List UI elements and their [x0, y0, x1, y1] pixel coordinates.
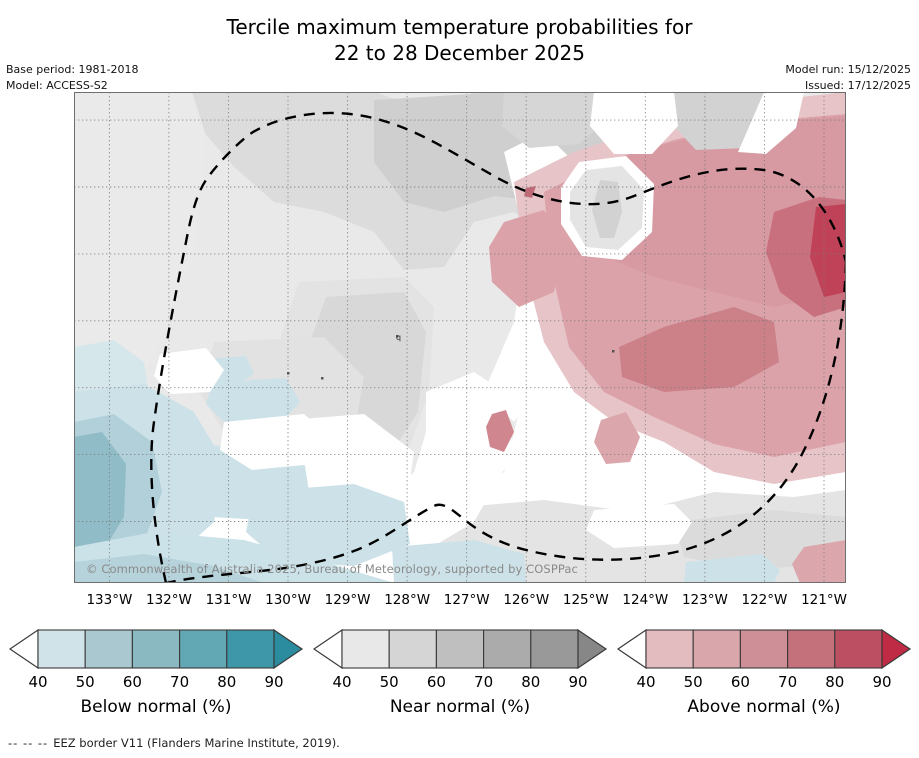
colorbar-band [180, 630, 227, 668]
colorbar-tick-label: 60 [731, 673, 750, 691]
colorbar-below-normal-ticks: 405060708090 [8, 673, 304, 693]
colorbar-tick-label: 60 [123, 673, 142, 691]
colorbar-tick-label: 80 [217, 673, 236, 691]
colorbar-swatches [312, 626, 608, 672]
x-tick-label: 121°W [801, 592, 847, 608]
colorbar-band [788, 630, 835, 668]
colorbar-tick-label: 40 [28, 673, 47, 691]
colorbar-above-normal-caption: Above normal (%) [616, 697, 912, 717]
colorbar-band [342, 630, 389, 668]
colorbar-over-arrow [578, 630, 606, 668]
x-tick-label: 130°W [265, 592, 311, 608]
colorbar-band [531, 630, 578, 668]
colorbar-under-arrow [10, 630, 38, 668]
x-tick-label: 129°W [325, 592, 371, 608]
x-tick-label: 128°W [384, 592, 430, 608]
colorbar-below-normal-caption: Below normal (%) [8, 697, 304, 717]
map-plot-area: q [74, 92, 846, 583]
colorbar-tick-label: 50 [380, 673, 399, 691]
colorbar-below-normal: 405060708090 Below normal (%) [8, 626, 304, 732]
colorbar-tick-label: 90 [568, 673, 587, 691]
colorbar-under-arrow [618, 630, 646, 668]
colorbar-below-normal-bar [8, 626, 304, 672]
colorbar-near-normal-caption: Near normal (%) [312, 697, 608, 717]
colorbar-swatches [616, 626, 912, 672]
colorbar-band [389, 630, 436, 668]
colorbar-near-normal: 405060708090 Near normal (%) [312, 626, 608, 732]
x-tick-label: 131°W [206, 592, 252, 608]
colorbar-above-normal-bar [616, 626, 912, 672]
colorbar-tick-label: 90 [264, 673, 283, 691]
colorbar-band [38, 630, 85, 668]
x-tick-label: 133°W [86, 592, 132, 608]
x-tick-label: 122°W [742, 592, 788, 608]
colorbar-above-normal: 405060708090 Above normal (%) [616, 626, 912, 732]
x-tick-label: 126°W [503, 592, 549, 608]
colorbar-tick-label: 70 [474, 673, 493, 691]
eez-dash-glyph: -- -- -- [8, 736, 48, 750]
colorbar-tick-label: 90 [872, 673, 891, 691]
colorbar-band [227, 630, 274, 668]
x-tick-label: 125°W [563, 592, 609, 608]
colorbar-over-arrow [274, 630, 302, 668]
colorbar-tick-label: 50 [684, 673, 703, 691]
title-line-1: Tercile maximum temperature probabilitie… [0, 14, 919, 40]
model-run-text: Model run: 15/12/2025 [785, 62, 911, 78]
colorbar-tick-label: 40 [636, 673, 655, 691]
colorbar-band [740, 630, 787, 668]
colorbar-over-arrow [882, 630, 910, 668]
colorbar-swatches [8, 626, 304, 672]
colorbar-under-arrow [314, 630, 342, 668]
x-axis-labels: 133°W132°W131°W130°W129°W128°W127°W126°W… [0, 592, 919, 614]
footer-legend: -- -- -- EEZ border V11 (Flanders Marine… [8, 736, 340, 750]
colorbar-tick-label: 50 [76, 673, 95, 691]
metadata-right: Model run: 15/12/2025 Issued: 17/12/2025 [785, 62, 911, 94]
eez-legend-label: EEZ border V11 (Flanders Marine Institut… [53, 736, 340, 750]
map-stray-glyph: q [396, 333, 401, 342]
colorbar-near-normal-ticks: 405060708090 [312, 673, 608, 693]
colorbar-band [835, 630, 882, 668]
colorbar-above-normal-ticks: 405060708090 [616, 673, 912, 693]
colorbar-tick-label: 60 [427, 673, 446, 691]
x-tick-label: 132°W [146, 592, 192, 608]
x-tick-label: 123°W [682, 592, 728, 608]
tercile-probability-map: q [74, 92, 846, 583]
colorbar-near-normal-bar [312, 626, 608, 672]
colorbar-band [132, 630, 179, 668]
colorbar-band [693, 630, 740, 668]
colorbar-band [646, 630, 693, 668]
page-title: Tercile maximum temperature probabilitie… [0, 14, 919, 66]
colorbar-band [484, 630, 531, 668]
colorbar-tick-label: 70 [170, 673, 189, 691]
colorbar-band [436, 630, 483, 668]
x-tick-label: 127°W [444, 592, 490, 608]
x-tick-label: 124°W [622, 592, 668, 608]
colorbar-tick-label: 80 [825, 673, 844, 691]
map-copyright: © Commonwealth of Australia 2025, Bureau… [86, 562, 578, 576]
colorbar-tick-label: 70 [778, 673, 797, 691]
colorbar-tick-label: 80 [521, 673, 540, 691]
colorbar-band [85, 630, 132, 668]
colorbar-tick-label: 40 [332, 673, 351, 691]
